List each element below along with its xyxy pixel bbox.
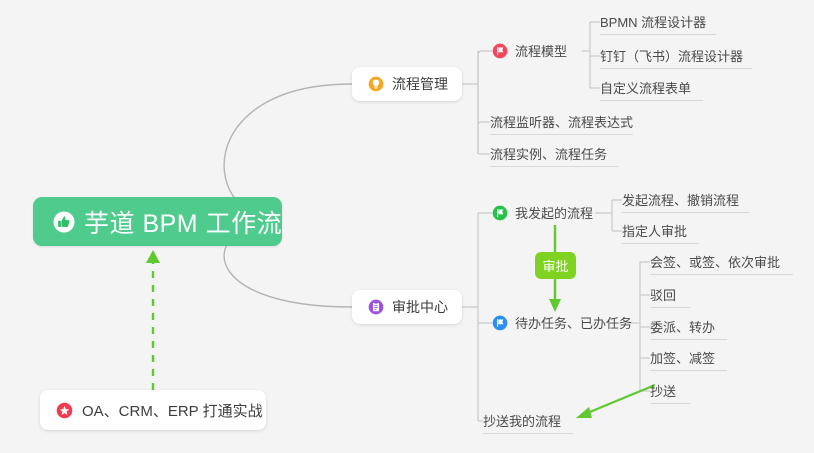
flow-arrow-cc-to-ccme: [585, 385, 655, 414]
sub-node-my-initiated-processes[interactable]: 我发起的流程: [492, 203, 593, 225]
leaf-node-cc[interactable]: 抄送: [650, 381, 690, 404]
branch-label-approval-center: 审批中心: [392, 297, 448, 317]
callout-label-integration-practice: OA、CRM、ERP 打通实战: [82, 400, 263, 421]
approval-tag[interactable]: 审批: [535, 252, 576, 279]
sub-node-label-todo-done-tasks: 待办任务、已办任务: [515, 313, 632, 332]
callout-node-integration-practice[interactable]: OA、CRM、ERP 打通实战: [40, 390, 266, 430]
branch-node-process-management[interactable]: 流程管理: [352, 67, 462, 101]
branch-node-approval-center[interactable]: 审批中心: [352, 290, 462, 324]
flow-arrowhead-up: [146, 250, 160, 263]
leaf-label-instance-task: 流程实例、流程任务: [490, 144, 607, 163]
connector-process-management-spine: [478, 51, 492, 154]
leaf-label-cc: 抄送: [650, 381, 676, 400]
leaf-node-dingtalk-designer[interactable]: 钉钉（飞书）流程设计器: [600, 46, 752, 69]
leaf-node-custom-form[interactable]: 自定义流程表单: [600, 78, 703, 101]
leaf-label-custom-form: 自定义流程表单: [600, 78, 691, 97]
leaf-node-add-remove-sign[interactable]: 加签、减签: [650, 348, 727, 371]
mindmap-canvas: 芋道 BPM 工作流 流程管理 审批中心 流程模型: [0, 0, 814, 453]
flow-arrowhead-down: [549, 299, 561, 312]
leaf-label-delegate-transfer: 委派、转办: [650, 317, 715, 336]
leaf-label-cc-to-me: 抄送我的流程: [483, 411, 561, 430]
approval-tag-label: 审批: [542, 256, 568, 275]
thumbs-up-icon: [53, 211, 75, 233]
flow-arrowhead-cc: [576, 407, 592, 418]
leaf-label-countersign: 会签、或签、依次审批: [650, 252, 780, 271]
root-node[interactable]: 芋道 BPM 工作流: [33, 197, 282, 246]
clipboard-icon: [368, 299, 384, 315]
branch-label-process-management: 流程管理: [392, 74, 448, 94]
sub-node-label-my-initiated-processes: 我发起的流程: [515, 203, 593, 222]
leaf-label-listener-expression: 流程监听器、流程表达式: [490, 112, 633, 131]
leaf-label-bpmn-designer: BPMN 流程设计器: [600, 12, 706, 31]
leaf-node-delegate-transfer[interactable]: 委派、转办: [650, 317, 727, 340]
root-label: 芋道 BPM 工作流: [84, 204, 282, 240]
leaf-label-dingtalk-designer: 钉钉（飞书）流程设计器: [600, 46, 743, 65]
leaf-node-assignee-approval[interactable]: 指定人审批: [622, 221, 699, 244]
flag-icon: [492, 315, 508, 331]
flag-icon: [492, 205, 508, 221]
leaf-node-reject[interactable]: 驳回: [650, 285, 690, 308]
sub-node-process-model[interactable]: 流程模型: [492, 41, 567, 63]
leaf-label-reject: 驳回: [650, 285, 676, 304]
leaf-node-bpmn-designer[interactable]: BPMN 流程设计器: [600, 12, 716, 35]
leaf-label-start-cancel: 发起流程、撤销流程: [622, 190, 739, 209]
leaf-node-cc-to-me[interactable]: 抄送我的流程: [483, 411, 573, 434]
leaf-node-start-cancel[interactable]: 发起流程、撤销流程: [622, 190, 750, 213]
sub-node-label-process-model: 流程模型: [515, 41, 567, 60]
sub-node-todo-done-tasks[interactable]: 待办任务、已办任务: [492, 313, 632, 335]
leaf-node-listener-expression[interactable]: 流程监听器、流程表达式: [490, 112, 633, 135]
lightbulb-icon: [368, 76, 384, 92]
leaf-label-add-remove-sign: 加签、减签: [650, 348, 715, 367]
leaf-label-assignee-approval: 指定人审批: [622, 221, 687, 240]
flag-icon: [492, 43, 508, 59]
leaf-node-instance-task[interactable]: 流程实例、流程任务: [490, 144, 618, 167]
star-icon: [56, 402, 73, 419]
leaf-node-countersign[interactable]: 会签、或签、依次审批: [650, 252, 793, 275]
